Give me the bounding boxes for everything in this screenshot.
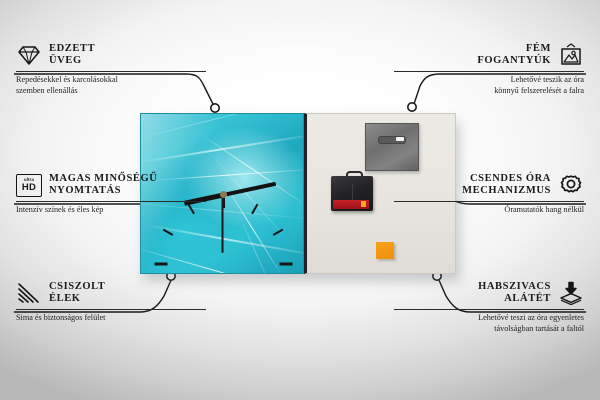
feature-divider xyxy=(16,309,206,310)
feature-description: Lehetővé teszi az óra egyenletes távolsá… xyxy=(394,313,584,334)
feature-title: FÉM FOGANTYÚK xyxy=(477,43,551,68)
feature-title: HABSZIVACS ALÁTÉT xyxy=(478,281,551,306)
feature-metal-handles: FÉM FOGANTYÚK Lehetővé teszik az óra kön… xyxy=(394,42,584,96)
feature-silent-mechanism: CSENDES ÓRA MECHANIZMUS Óramutatók hang … xyxy=(394,172,584,216)
feature-divider xyxy=(394,201,584,202)
feature-header: EDZETT ÜVEG xyxy=(16,42,206,68)
mechanism-body xyxy=(331,176,373,211)
connector-dot-glass xyxy=(211,104,219,112)
clock-mechanism xyxy=(331,171,373,211)
foam-pad-icon xyxy=(558,280,584,306)
feature-polished-edges: CSISZOLT ÉLEK Sima és biztonságos felüle… xyxy=(16,280,206,324)
feature-foam-pad: HABSZIVACS ALÁTÉT Lehetővé teszi az óra … xyxy=(394,280,584,334)
feature-tempered-glass: EDZETT ÜVEG Repedésekkel és karcolásokka… xyxy=(16,42,206,96)
polished-edge-icon xyxy=(16,280,42,306)
feature-header: FÉM FOGANTYÚK xyxy=(394,42,584,68)
feature-title: MAGAS MINŐSÉGŰ NYOMTATÁS xyxy=(49,173,157,198)
feature-title: EDZETT ÜVEG xyxy=(49,43,95,68)
minute-hand xyxy=(223,181,277,196)
hand-cap xyxy=(220,191,227,198)
foam-pad xyxy=(376,242,394,259)
battery-label xyxy=(333,200,369,209)
diamond-icon xyxy=(16,42,42,68)
tick-1 xyxy=(251,203,258,214)
tick-10 xyxy=(163,228,174,235)
feature-description: Lehetővé teszik az óra könnyű felszerelé… xyxy=(394,75,584,96)
feature-divider xyxy=(16,71,206,72)
ultra-hd-icon-large-label: HD xyxy=(22,183,36,193)
tick-9 xyxy=(154,262,167,265)
feature-divider xyxy=(394,71,584,72)
picture-hanger-icon xyxy=(558,42,584,68)
feature-header: CSENDES ÓRA MECHANIZMUS xyxy=(394,172,584,198)
gear-icon xyxy=(558,172,584,198)
connector-dot-handles xyxy=(408,103,416,111)
infographic-canvas: EDZETT ÜVEG Repedésekkel és karcolásokka… xyxy=(0,0,600,400)
tick-3 xyxy=(279,262,292,265)
tick-2 xyxy=(273,228,284,235)
feature-description: Repedésekkel és karcolásokkal szemben el… xyxy=(16,75,206,96)
ultra-hd-icon: ultra HD xyxy=(16,172,42,198)
feature-divider xyxy=(394,309,584,310)
feature-description: Óramutatók hang nélkül xyxy=(394,205,584,216)
feature-description: Sima és biztonságos felület xyxy=(16,313,206,324)
feature-header: HABSZIVACS ALÁTÉT xyxy=(394,280,584,306)
feature-high-quality-print: ultra HD MAGAS MINŐSÉGŰ NYOMTATÁS Intenz… xyxy=(16,172,206,216)
feature-title: CSISZOLT ÉLEK xyxy=(49,281,105,306)
hanger-slot xyxy=(378,136,406,144)
feature-title: CSENDES ÓRA MECHANIZMUS xyxy=(462,173,551,198)
feature-header: CSISZOLT ÉLEK xyxy=(16,280,206,306)
feature-divider xyxy=(16,201,206,202)
metal-hanger-plate xyxy=(365,123,419,171)
feature-description: Intenzív színek és éles kép xyxy=(16,205,206,216)
feature-header: ultra HD MAGAS MINŐSÉGŰ NYOMTATÁS xyxy=(16,172,206,198)
